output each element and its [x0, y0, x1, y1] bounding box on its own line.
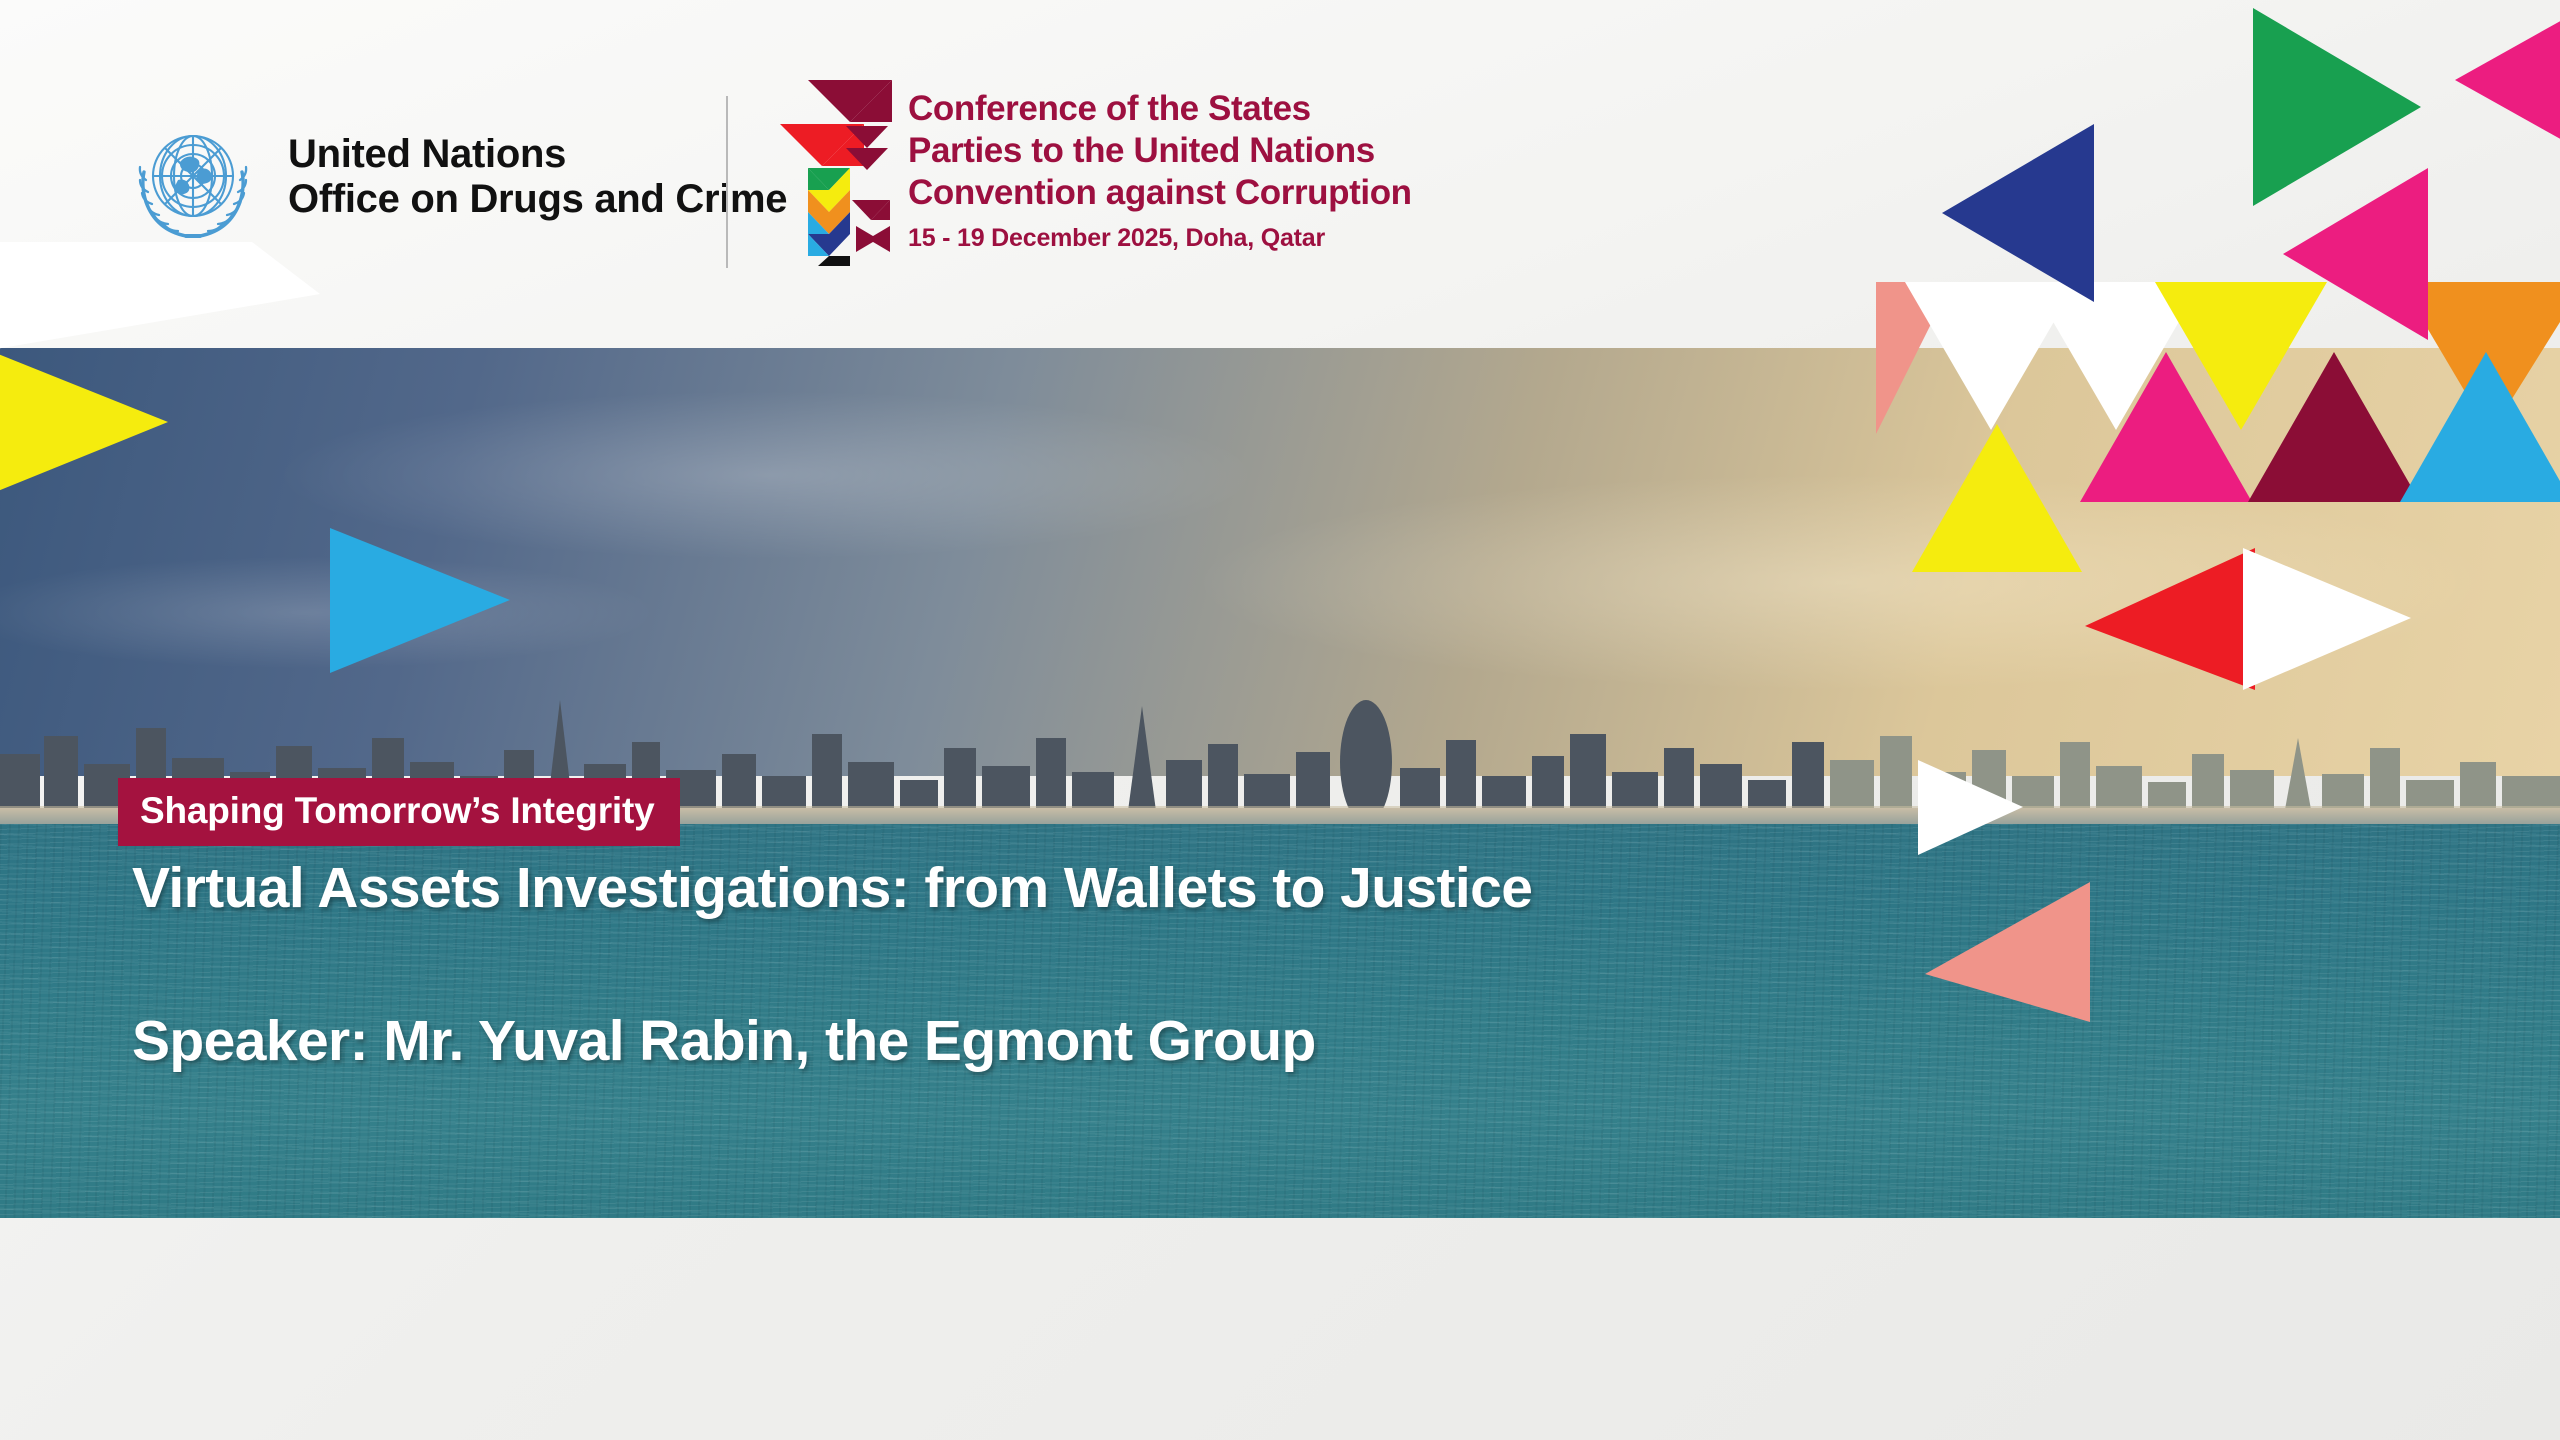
cosp-wordmark: Conference of the States Parties to the …: [908, 88, 1412, 253]
triangle-pink-lower-icon: [2080, 352, 2252, 502]
header-divider: [726, 96, 728, 268]
cosp-line3: Convention against Corruption: [908, 172, 1412, 214]
cosp-triangles-logo-icon: [772, 76, 900, 266]
un-emblem-icon: [128, 118, 258, 248]
triangle-pink-mid-icon: [2283, 168, 2428, 340]
triangle-salmon-photo-icon: [1925, 882, 2090, 1022]
speaker-line: Speaker: Mr. Yuval Rabin, the Egmont Gro…: [132, 1008, 1316, 1074]
triangle-pink-topright-icon: [2455, 0, 2560, 164]
presentation-slide: Shaping Tomorrow’s Integrity Virtual Ass…: [0, 0, 2560, 1440]
triangle-darkmaroon-icon: [2248, 352, 2420, 502]
page-title: Virtual Assets Investigations: from Wall…: [132, 855, 1532, 921]
triangle-cyan-left-icon: [330, 528, 510, 673]
triangle-red-diamond-icon: [2085, 548, 2255, 690]
triangle-white-photo-icon: [1918, 760, 2023, 855]
triangle-yellow-lower-icon: [1912, 424, 2082, 572]
triangle-yellow-left-icon: [0, 350, 168, 495]
kicker-badge: Shaping Tomorrow’s Integrity: [118, 778, 680, 846]
un-line1: United Nations: [288, 132, 787, 177]
triangle-cyan-right-icon: [2400, 352, 2560, 502]
triangle-white-diamond-icon: [2243, 548, 2411, 690]
un-wordmark: United Nations Office on Drugs and Crime: [288, 132, 787, 222]
un-line2: Office on Drugs and Crime: [288, 177, 787, 222]
cosp-line1: Conference of the States: [908, 88, 1412, 130]
cosp-line2: Parties to the United Nations: [908, 130, 1412, 172]
cosp-date-location: 15 - 19 December 2025, Doha, Qatar: [908, 224, 1412, 253]
triangle-navy-icon: [1942, 124, 2094, 302]
